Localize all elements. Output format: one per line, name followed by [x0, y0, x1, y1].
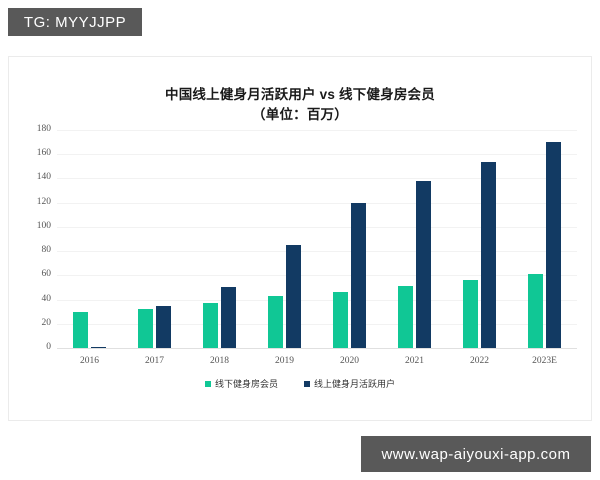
bar-2022-offline	[463, 280, 478, 348]
legend-label: 线上健身月活跃用户	[314, 377, 395, 390]
bar-2016-offline	[73, 312, 88, 348]
x-axis-tick-label: 2021	[382, 356, 447, 366]
y-axis-tick-label: 80	[11, 245, 51, 255]
legend-swatch-icon	[304, 381, 310, 387]
chart-title-block: 中国线上健身月活跃用户 vs 线下健身房会员 （单位：百万）	[9, 85, 591, 125]
gridline	[57, 251, 577, 252]
y-axis-tick-label: 120	[11, 197, 51, 207]
x-axis-tick-label: 2018	[187, 356, 252, 366]
bar-2016-online	[91, 347, 106, 348]
legend-swatch-icon	[205, 381, 211, 387]
axis-baseline	[57, 348, 577, 349]
gridline	[57, 154, 577, 155]
x-axis-tick-label: 2022	[447, 356, 512, 366]
x-axis-tick-label: 2019	[252, 356, 317, 366]
y-axis-tick-label: 180	[11, 124, 51, 134]
plot-area: 020406080100120140160180 201620172018201…	[57, 130, 577, 348]
x-axis-tick-label: 2017	[122, 356, 187, 366]
chart-legend: 线下健身房会员线上健身月活跃用户	[9, 377, 591, 390]
watermark-top-left: TG: MYYJJPP	[8, 8, 142, 36]
bar-2019-online	[286, 245, 301, 348]
x-axis-tick-label: 2020	[317, 356, 382, 366]
x-axis-tick-label: 2016	[57, 356, 122, 366]
bar-2023E-offline	[528, 274, 543, 348]
bar-2017-online	[156, 306, 171, 348]
chart-card: 中国线上健身月活跃用户 vs 线下健身房会员 （单位：百万） 020406080…	[8, 56, 592, 421]
y-axis-tick-label: 20	[11, 318, 51, 328]
bar-2018-online	[221, 287, 236, 348]
bar-2017-offline	[138, 309, 153, 348]
y-axis-tick-label: 0	[11, 342, 51, 352]
y-axis-tick-label: 60	[11, 269, 51, 279]
gridline	[57, 300, 577, 301]
legend-label: 线下健身房会员	[215, 377, 278, 390]
chart-subtitle: （单位：百万）	[9, 105, 591, 125]
gridline	[57, 227, 577, 228]
y-axis-tick-label: 40	[11, 294, 51, 304]
gridline	[57, 203, 577, 204]
bar-2020-online	[351, 203, 366, 348]
bar-2020-offline	[333, 292, 348, 348]
bar-2019-offline	[268, 296, 283, 348]
gridline	[57, 275, 577, 276]
gridline	[57, 178, 577, 179]
y-axis-tick-label: 100	[11, 221, 51, 231]
page-title: 中国线上健身月活跃用户 vs 线下健身房会员	[9, 85, 591, 105]
x-axis-tick-label: 2023E	[512, 356, 577, 366]
bar-2021-offline	[398, 286, 413, 348]
bar-2023E-online	[546, 142, 561, 348]
bar-2022-online	[481, 162, 496, 349]
bar-2021-online	[416, 181, 431, 348]
y-axis-tick-label: 160	[11, 148, 51, 158]
gridline	[57, 130, 577, 131]
watermark-bottom-right: www.wap-aiyouxi-app.com	[361, 436, 591, 472]
legend-item[interactable]: 线上健身月活跃用户	[304, 377, 395, 390]
y-axis-tick-label: 140	[11, 172, 51, 182]
bar-2018-offline	[203, 303, 218, 348]
legend-item[interactable]: 线下健身房会员	[205, 377, 278, 390]
gridline	[57, 324, 577, 325]
